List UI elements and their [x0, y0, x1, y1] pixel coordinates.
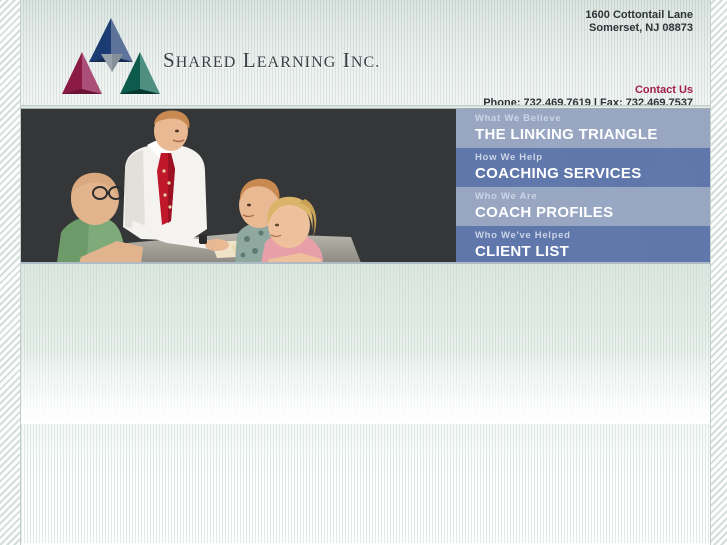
company-address: 1600 Cottontail Lane Somerset, NJ 08873: [585, 9, 693, 35]
nav-title: COACHING SERVICES: [475, 164, 710, 183]
nav-item-coaching-services[interactable]: How We Help COACHING SERVICES: [456, 148, 710, 187]
nav-item-client-list[interactable]: Who We've Helped CLIENT LIST: [456, 226, 710, 262]
address-line-2: Somerset, NJ 08873: [585, 22, 693, 35]
nav-kicker: Who We Are: [475, 191, 710, 203]
address-line-1: 1600 Cottontail Lane: [585, 9, 693, 22]
nav-kicker: What We Believe: [475, 113, 710, 125]
nav-item-the-linking-triangle[interactable]: What We Believe THE LINKING TRIANGLE: [456, 109, 710, 148]
wordmark-l: L: [243, 48, 257, 72]
wordmark-nc: NC.: [351, 54, 381, 71]
phone-fax-text: Phone: 732.469.7619 | Fax: 732.469.7537: [483, 97, 693, 108]
nav-title: THE LINKING TRIANGLE: [475, 125, 710, 144]
nav-title: CLIENT LIST: [475, 242, 710, 261]
nav-kicker: Who We've Helped: [475, 230, 710, 242]
group-meeting-photo: [21, 109, 456, 262]
wordmark-hared: HARED: [176, 54, 237, 71]
banner: What We Believe THE LINKING TRIANGLE How…: [21, 108, 710, 264]
page-container: SHARED LEARNING INC. 1600 Cottontail Lan…: [20, 0, 711, 545]
nav-kicker: How We Help: [475, 152, 710, 164]
wordmark-i: I: [343, 48, 351, 72]
main-navigation: What We Believe THE LINKING TRIANGLE How…: [456, 109, 710, 262]
site-header: SHARED LEARNING INC. 1600 Cottontail Lan…: [21, 0, 710, 108]
page-content-area: [21, 264, 710, 543]
company-wordmark: SHARED LEARNING INC.: [163, 48, 380, 73]
nav-item-coach-profiles[interactable]: Who We Are COACH PROFILES: [456, 187, 710, 226]
contact-us-link[interactable]: Contact Us: [635, 84, 693, 96]
nav-title: COACH PROFILES: [475, 203, 710, 222]
three-triangles-logo-icon[interactable]: [59, 10, 167, 102]
wordmark-s: S: [163, 48, 176, 72]
wordmark-earning: EARNING: [257, 54, 337, 71]
